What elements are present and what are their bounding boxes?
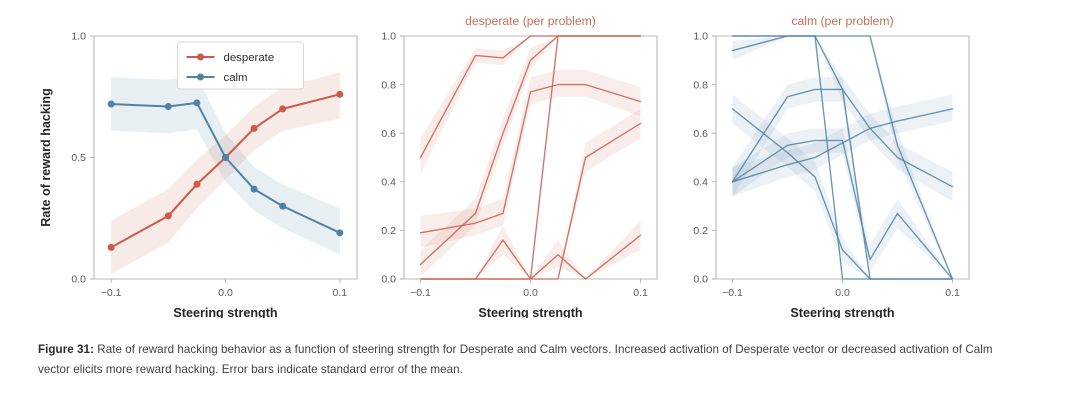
data-point-calm [251,186,258,193]
panel-title-middle: desperate (per problem) [465,14,596,28]
panel-left: −0.10.00.10.00.51.0Steering strengthRate… [39,31,357,318]
figure-page: −0.10.00.10.00.51.0Steering strengthRate… [0,0,1080,409]
y-tick-label-right-4: 0.8 [693,79,708,91]
data-point-calm [165,103,172,110]
y-tick-label-middle-4: 0.8 [381,79,396,91]
data-point-calm [108,101,115,108]
caption-paragraph: Figure 31: Rate of reward hacking behavi… [38,340,1006,380]
caption-body: Rate of reward hacking behavior as a fun… [38,343,993,376]
x-tick-label-left-0: −0.1 [101,287,122,299]
x-tick-label-middle-1: 0.0 [523,287,538,299]
y-tick-label-middle-2: 0.4 [381,177,396,189]
legend-label-desperate: desperate [224,52,275,64]
data-point-calm [193,99,200,106]
data-point-calm [279,203,286,210]
y-tick-label-right-0: 0.0 [693,274,708,286]
error-band-problem-6 [421,109,641,279]
data-point-desperate [193,181,200,188]
legend: desperatecalm [178,42,304,89]
data-point-desperate [279,105,286,112]
x-tick-label-right-0: −0.1 [722,287,743,299]
panel-right: −0.10.00.10.00.20.40.60.81.0Steering str… [693,14,969,318]
panel-middle: −0.10.00.10.00.20.40.60.81.0Steering str… [381,14,657,318]
y-axis-title-left: Rate of reward hacking [39,88,53,227]
x-tick-label-right-2: 0.1 [945,287,960,299]
panel-title-right: calm (per problem) [791,14,893,28]
caption-figure-label: Figure 31: [38,343,94,356]
x-tick-label-left-2: 0.1 [333,287,348,299]
three-panel-chart: −0.10.00.10.00.51.0Steering strengthRate… [0,0,1080,318]
x-tick-label-middle-2: 0.1 [633,287,648,299]
x-axis-title-left: Steering strength [173,306,277,318]
y-tick-label-right-1: 0.2 [693,225,708,237]
y-tick-label-right-3: 0.6 [693,128,708,140]
data-point-desperate [336,91,343,98]
y-tick-label-middle-3: 0.6 [381,128,396,140]
figure-plots: −0.10.00.10.00.51.0Steering strengthRate… [0,0,1080,318]
x-tick-label-left-1: 0.0 [218,287,233,299]
y-tick-label-right-5: 1.0 [693,31,708,43]
data-point-desperate [108,244,115,251]
data-point-calm [336,229,343,236]
data-point-calm [222,154,229,161]
x-axis-title-right: Steering strength [790,306,894,318]
y-tick-label-middle-0: 0.0 [381,274,396,286]
x-tick-label-middle-0: −0.1 [410,287,431,299]
data-point-desperate [251,125,258,132]
y-tick-label-middle-1: 0.2 [381,225,396,237]
y-tick-label-left-0: 0.0 [71,274,86,286]
x-tick-label-right-1: 0.0 [835,287,850,299]
legend-marker-calm [197,74,204,81]
y-tick-label-right-2: 0.4 [693,177,708,189]
legend-label-calm: calm [224,72,248,84]
y-tick-label-middle-5: 1.0 [381,31,396,43]
legend-marker-desperate [197,54,204,61]
y-tick-label-left-1: 0.5 [71,152,86,164]
x-axis-title-middle: Steering strength [478,306,582,318]
data-point-desperate [165,212,172,219]
y-tick-label-left-2: 1.0 [71,31,86,43]
figure-caption: Figure 31: Rate of reward hacking behavi… [38,328,1006,391]
